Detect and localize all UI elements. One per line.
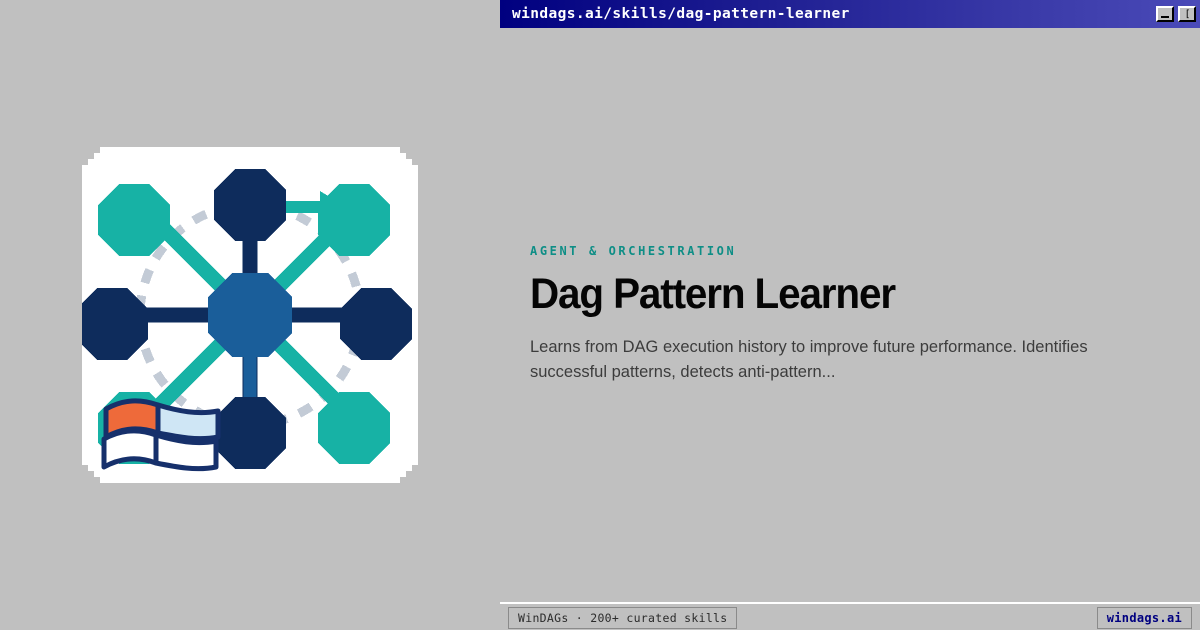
page-title: Dag Pattern Learner: [530, 272, 1094, 317]
footer-bar: WinDAGs · 200+ curated skills windags.ai: [500, 606, 1200, 630]
minimize-button[interactable]: [1156, 6, 1174, 22]
footer-divider: [500, 602, 1200, 604]
windows-flag-icon: [104, 401, 218, 469]
footer-tagline: WinDAGs · 200+ curated skills: [508, 607, 737, 629]
skill-category-label: AGENT & ORCHESTRATION: [530, 244, 1130, 258]
skill-detail-panel: AGENT & ORCHESTRATION Dag Pattern Learne…: [530, 244, 1130, 385]
window-url-title: windags.ai/skills/dag-pattern-learner: [512, 6, 1152, 22]
footer-brand-badge[interactable]: windags.ai: [1097, 607, 1192, 629]
maximize-button[interactable]: [ ]: [1178, 6, 1196, 22]
skill-description: Learns from DAG execution history to imp…: [530, 335, 1120, 385]
hub-node: [208, 273, 292, 357]
skill-icon-card: [82, 147, 418, 483]
dag-hub-spoke-icon: [82, 147, 418, 483]
window-title-bar: windags.ai/skills/dag-pattern-learner [ …: [500, 0, 1200, 28]
skill-icon-canvas: [82, 147, 418, 483]
